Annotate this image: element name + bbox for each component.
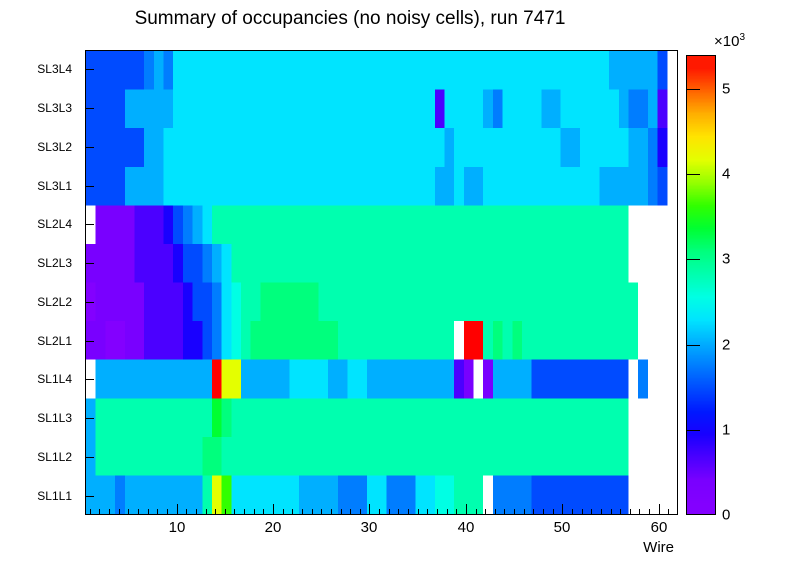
y-axis-label-sl2l4: SL2L4 [37, 217, 72, 231]
colorbar-tick [686, 89, 700, 90]
x-axis-minor-tick [418, 509, 419, 515]
page-title: Summary of occupancies (no noisy cells),… [0, 8, 700, 30]
y-axis-tick [85, 379, 94, 380]
y-axis-labels: SL1L1SL1L2SL1L3SL1L4SL2L1SL2L2SL2L3SL2L4… [0, 50, 80, 515]
x-axis-minor-tick [263, 509, 264, 515]
x-axis-minor-tick [341, 509, 342, 515]
y-axis-label-sl2l1: SL2L1 [37, 334, 72, 348]
colorbar-exponent-power: 3 [739, 32, 745, 43]
y-axis-tick [85, 108, 94, 109]
x-axis-minor-tick [601, 509, 602, 515]
x-axis-minor-tick [456, 509, 457, 515]
x-axis-minor-tick [408, 509, 409, 515]
colorbar-tick-label: 4 [722, 166, 730, 183]
x-axis-major-tick [177, 504, 178, 515]
x-axis-minor-tick [495, 509, 496, 515]
x-axis-tick-label: 30 [361, 519, 378, 536]
heatmap-canvas [86, 51, 677, 514]
y-axis-tick [85, 457, 94, 458]
colorbar-tick-label: 5 [722, 81, 730, 98]
x-axis-minor-tick [90, 509, 91, 515]
x-axis-major-tick [466, 504, 467, 515]
colorbar-gradient [687, 56, 715, 514]
y-axis-label-sl1l4: SL1L4 [37, 372, 72, 386]
x-axis-minor-tick [206, 509, 207, 515]
x-axis-minor-tick [389, 509, 390, 515]
x-axis-minor-tick [504, 509, 505, 515]
heatmap-image [86, 51, 677, 514]
x-axis-minor-tick [157, 509, 158, 515]
x-axis-minor-tick [582, 509, 583, 515]
x-axis-minor-tick [244, 509, 245, 515]
x-axis-major-tick [659, 504, 660, 515]
x-axis-tick-label: 50 [554, 519, 571, 536]
x-axis-minor-tick [321, 509, 322, 515]
x-axis-minor-tick [331, 509, 332, 515]
x-axis-minor-tick [360, 509, 361, 515]
x-axis-minor-tick [215, 509, 216, 515]
colorbar-tick [686, 259, 700, 260]
x-axis-minor-tick [379, 509, 380, 515]
y-axis-label-sl1l2: SL1L2 [37, 450, 72, 464]
y-axis-tick [85, 186, 94, 187]
y-axis-tick [85, 302, 94, 303]
x-axis-minor-tick [350, 509, 351, 515]
x-axis-minor-tick [109, 509, 110, 515]
y-axis-tick [85, 263, 94, 264]
y-axis-tick [85, 147, 94, 148]
x-axis-minor-tick [302, 509, 303, 515]
x-axis-minor-tick [591, 509, 592, 515]
colorbar-canvas [687, 56, 715, 514]
x-axis-minor-tick [138, 509, 139, 515]
x-axis-tick-label: 10 [169, 519, 186, 536]
x-axis-minor-tick [476, 509, 477, 515]
y-axis-label-sl3l1: SL3L1 [37, 179, 72, 193]
y-axis-label-sl1l1: SL1L1 [37, 489, 72, 503]
plot-frame [85, 50, 678, 515]
x-axis-minor-tick [620, 509, 621, 515]
y-axis-tick [85, 341, 94, 342]
x-axis-minor-tick [533, 509, 534, 515]
y-axis-label-sl1l3: SL1L3 [37, 411, 72, 425]
plot-canvas: Summary of occupancies (no noisy cells),… [0, 0, 796, 572]
x-axis-minor-tick [148, 509, 149, 515]
x-axis-minor-tick [668, 509, 669, 515]
x-axis-tick-label: 60 [651, 519, 668, 536]
colorbar-tick [686, 430, 700, 431]
colorbar-tick-label: 3 [722, 251, 730, 268]
colorbar-exponent-base: ×10 [714, 33, 739, 50]
colorbar-exponent: ×103 [714, 32, 745, 50]
y-axis-label-sl3l3: SL3L3 [37, 101, 72, 115]
x-axis-minor-tick [630, 509, 631, 515]
x-axis-minor-tick [283, 509, 284, 515]
colorbar-tick [686, 174, 700, 175]
x-axis-minor-tick [292, 509, 293, 515]
x-axis-tick-label: 20 [265, 519, 282, 536]
x-axis-minor-tick [485, 509, 486, 515]
x-axis-minor-tick [254, 509, 255, 515]
x-axis-minor-tick [225, 509, 226, 515]
x-axis-minor-tick [196, 509, 197, 515]
x-axis-minor-tick [234, 509, 235, 515]
x-axis-minor-tick [427, 509, 428, 515]
x-axis-minor-tick [186, 509, 187, 515]
y-axis-tick [85, 496, 94, 497]
x-axis-minor-tick [611, 509, 612, 515]
y-axis-tick [85, 224, 94, 225]
x-axis-tick-label: 40 [458, 519, 475, 536]
y-axis-label-sl3l4: SL3L4 [37, 62, 72, 76]
colorbar-tick-label: 0 [722, 507, 730, 524]
x-axis-minor-tick [649, 509, 650, 515]
x-axis-minor-tick [437, 509, 438, 515]
x-axis-major-tick [273, 504, 274, 515]
x-axis-major-tick [562, 504, 563, 515]
x-axis-minor-tick [128, 509, 129, 515]
colorbar-tick-label: 1 [722, 422, 730, 439]
x-axis-minor-tick [447, 509, 448, 515]
x-axis-minor-tick [99, 509, 100, 515]
x-axis-minor-tick [167, 509, 168, 515]
x-axis-minor-tick [543, 509, 544, 515]
x-axis-minor-tick [524, 509, 525, 515]
colorbar-frame [686, 55, 716, 515]
x-axis-minor-tick [398, 509, 399, 515]
y-axis-label-sl2l2: SL2L2 [37, 295, 72, 309]
x-axis-minor-tick [639, 509, 640, 515]
x-axis-minor-tick [119, 509, 120, 515]
x-axis-minor-tick [514, 509, 515, 515]
y-axis-tick [85, 69, 94, 70]
colorbar-tick [686, 345, 700, 346]
x-axis-title: Wire [0, 539, 678, 556]
colorbar-tick-label: 2 [722, 337, 730, 354]
x-axis-minor-tick [572, 509, 573, 515]
x-axis-major-tick [369, 504, 370, 515]
x-axis-minor-tick [312, 509, 313, 515]
y-axis-tick [85, 418, 94, 419]
y-axis-label-sl3l2: SL3L2 [37, 140, 72, 154]
x-axis-minor-tick [553, 509, 554, 515]
y-axis-label-sl2l3: SL2L3 [37, 256, 72, 270]
